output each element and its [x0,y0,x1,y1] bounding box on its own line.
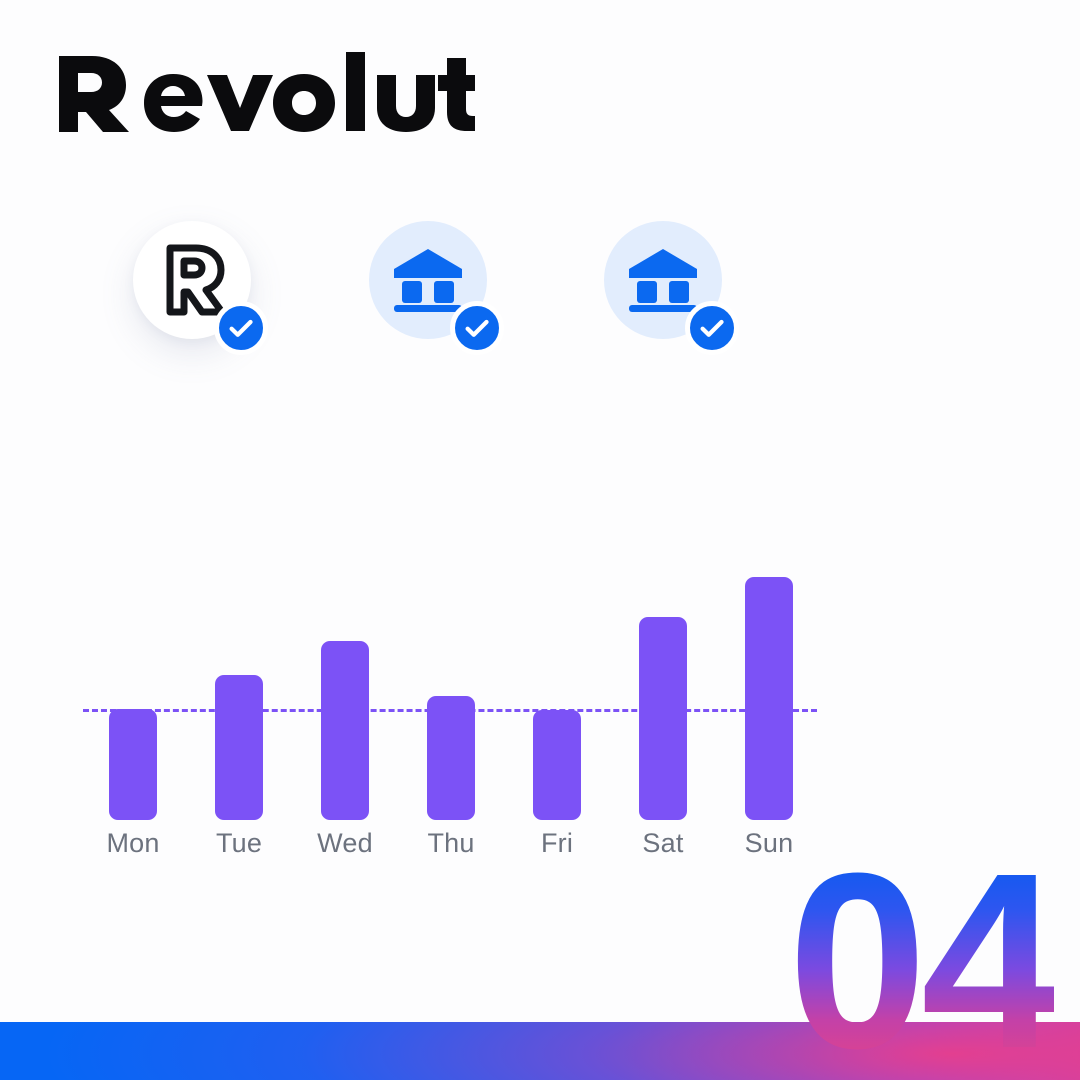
slide-number: 04 [788,856,1054,1066]
linked-accounts-row [133,221,853,411]
chart-x-axis: Mon Tue Wed Thu Fri Sat Sun [80,828,840,872]
bar-mon[interactable] [109,709,157,820]
bar-slot-thu[interactable] [398,545,504,825]
bar-slot-tue[interactable] [186,545,292,825]
chart-plot-area [80,545,840,825]
verified-badge [685,301,739,355]
x-label-tue: Tue [186,828,292,859]
revolut-logo [55,52,475,132]
bar-slot-wed[interactable] [292,545,398,825]
account-badge-bank-2[interactable] [604,221,722,339]
promo-card: Mon Tue Wed Thu Fri Sat Sun 04 [0,0,1080,1080]
bar-fri[interactable] [533,710,581,820]
average-reference-line [83,709,817,712]
bar-thu[interactable] [427,696,475,820]
bar-slot-mon[interactable] [80,545,186,825]
weekly-spending-chart: Mon Tue Wed Thu Fri Sat Sun [80,545,840,880]
bar-sun[interactable] [745,577,793,820]
revolut-wordmark-icon [55,52,475,132]
bar-slot-sat[interactable] [610,545,716,825]
x-label-thu: Thu [398,828,504,859]
bar-slot-fri[interactable] [504,545,610,825]
check-icon [462,313,492,343]
bar-wed[interactable] [321,641,369,820]
revolut-r-icon [156,242,228,318]
bank-icon [392,247,464,313]
x-label-fri: Fri [504,828,610,859]
verified-badge [450,301,504,355]
check-icon [697,313,727,343]
account-badge-bank-1[interactable] [369,221,487,339]
account-badge-revolut[interactable] [133,221,251,339]
x-label-sat: Sat [610,828,716,859]
bar-sat[interactable] [639,617,687,820]
x-label-wed: Wed [292,828,398,859]
verified-badge [214,301,268,355]
bar-tue[interactable] [215,675,263,820]
bank-icon [627,247,699,313]
check-icon [226,313,256,343]
bar-slot-sun[interactable] [716,545,822,825]
x-label-mon: Mon [80,828,186,859]
